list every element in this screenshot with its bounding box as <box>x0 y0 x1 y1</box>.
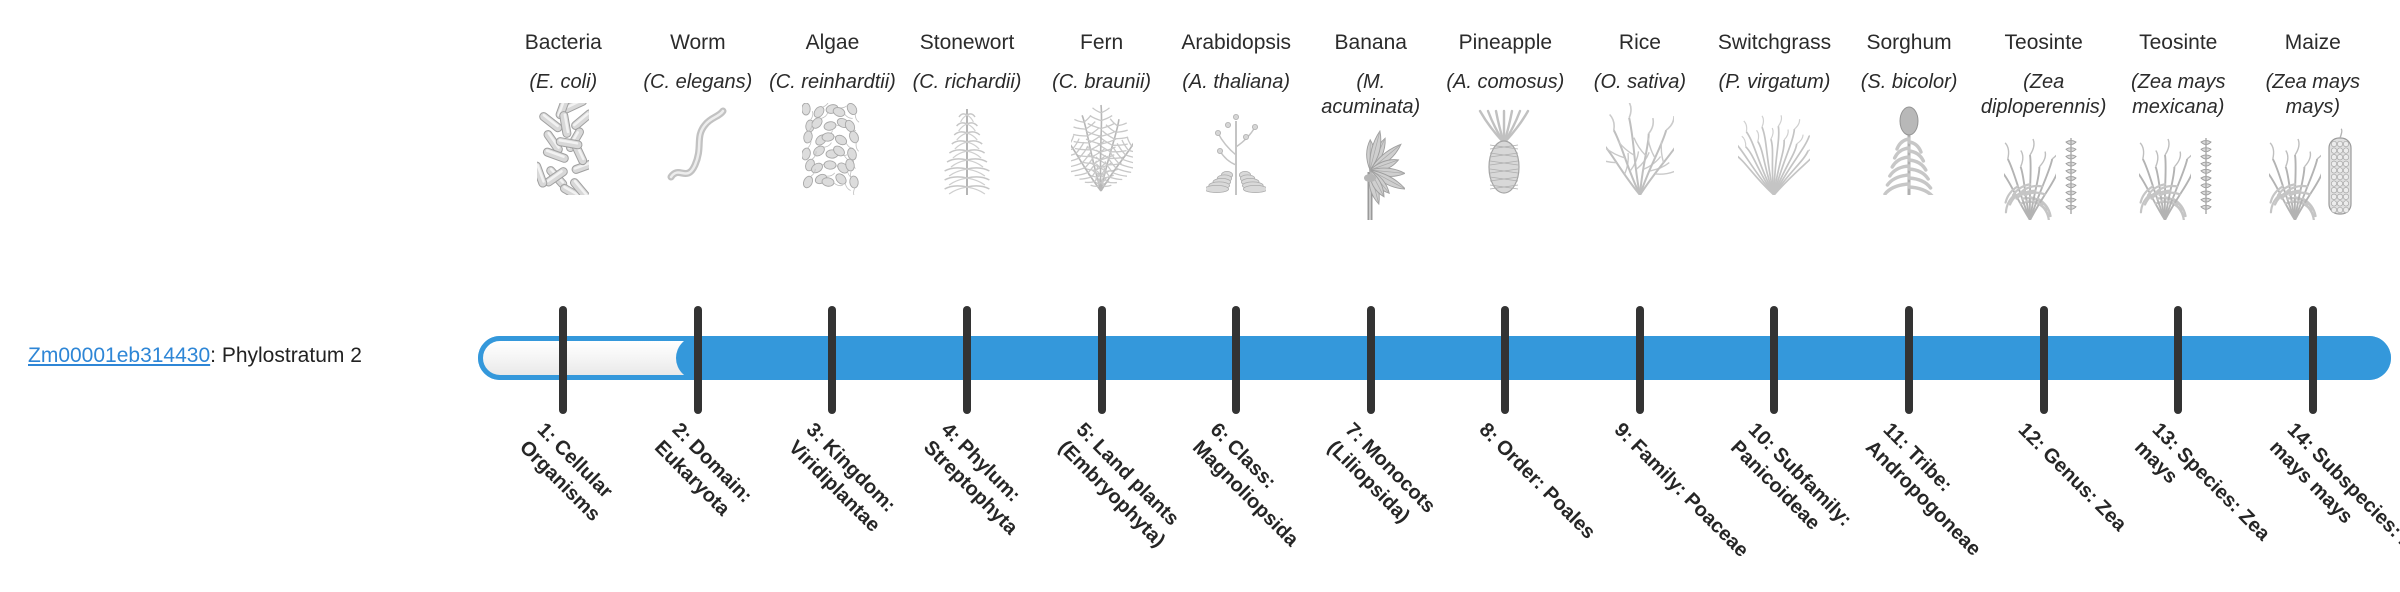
species-common-name: Teosinte <box>2005 30 2083 56</box>
rank-slot: 6: Class: Magnoliopsida <box>1169 418 1304 580</box>
bacteria-illustration <box>496 103 631 195</box>
species-column: Arabidopsis(A. thaliana) <box>1169 30 1304 195</box>
arabidopsis-illustration <box>1169 103 1304 195</box>
banana-illustration <box>1303 128 1438 220</box>
species-column: Stonewort(C. richardii) <box>900 30 1035 195</box>
rank-slot: 14: Subspecies: Zea mays mays <box>2246 418 2381 580</box>
species-scientific-name: (C. elegans) <box>641 70 754 95</box>
species-common-name: Bacteria <box>525 30 602 56</box>
gene-phylostratum-label: Zm00001eb314430: Phylostratum 2 <box>28 343 362 369</box>
species-column: Teosinte(Zea diploperennis) <box>1976 30 2111 220</box>
phylostratum-value: Phylostratum 2 <box>222 344 362 367</box>
phylostratum-progress-bar[interactable] <box>478 336 2391 380</box>
species-column: Sorghum(S. bicolor) <box>1842 30 1977 195</box>
species-scientific-name: (O. sativa) <box>1592 70 1688 95</box>
species-common-name: Maize <box>2285 30 2341 56</box>
species-scientific-name: (C. reinhardtii) <box>767 70 898 95</box>
rank-slot: 8: Order: Poales <box>1438 418 1573 580</box>
species-scientific-name: (Zea diploperennis) <box>1976 70 2111 120</box>
species-columns: Bacteria(E. coli)Worm(C. elegans)Algae(C… <box>496 30 2380 305</box>
species-column: Algae(C. reinhardtii) <box>765 30 900 195</box>
gene-label-separator: : <box>210 344 222 367</box>
rank-slot: 12: Genus: Zea <box>1976 418 2111 580</box>
species-scientific-name: (A. comosus) <box>1444 70 1566 95</box>
rank-slot: 9: Family: Poaceae <box>1573 418 1708 580</box>
rank-slot: 7: Monocots (Liliopsida) <box>1303 418 1438 580</box>
species-scientific-name: (P. virgatum) <box>1717 70 1833 95</box>
species-scientific-name: (Zea mays mays) <box>2246 70 2381 120</box>
species-column: Switchgrass(P. virgatum) <box>1707 30 1842 195</box>
gene-id-link[interactable]: Zm00001eb314430 <box>28 344 210 367</box>
species-common-name: Stonewort <box>920 30 1015 56</box>
fern-illustration <box>1034 103 1169 195</box>
sorghum-illustration <box>1842 103 1977 195</box>
rice-illustration <box>1573 103 1708 195</box>
species-column: Teosinte(Zea mays mexicana) <box>2111 30 2246 220</box>
progress-bar-fill <box>676 336 2391 380</box>
species-scientific-name: (E. coli) <box>527 70 599 95</box>
species-column: Pineapple(A. comosus) <box>1438 30 1573 195</box>
species-column: Banana(M. acuminata) <box>1303 30 1438 220</box>
species-common-name: Worm <box>670 30 726 56</box>
teosinte-diploperennis-illustration <box>1976 128 2111 220</box>
species-common-name: Algae <box>806 30 860 56</box>
species-column: Fern(C. braunii) <box>1034 30 1169 195</box>
pineapple-illustration <box>1438 103 1573 195</box>
species-column: Maize(Zea mays mays) <box>2246 30 2381 220</box>
taxonomic-rank-label: 14: Subspecies: Zea mays mays <box>2263 418 2400 592</box>
maize-illustration <box>2246 128 2381 220</box>
taxonomic-rank-labels: 1: Cellular Organisms2: Domain: Eukaryot… <box>496 418 2380 580</box>
species-common-name: Pineapple <box>1459 30 1552 56</box>
species-column: Bacteria(E. coli) <box>496 30 631 195</box>
rank-slot: 5: Land plants (Embryophyta) <box>1034 418 1169 580</box>
rank-slot: 11: Tribe: Andropogoneae <box>1842 418 1977 580</box>
rank-slot: 10: Subfamily: Panicoideae <box>1707 418 1842 580</box>
species-scientific-name: (Zea mays mexicana) <box>2111 70 2246 120</box>
rank-slot: 3: Kingdom: Viridiplantae <box>765 418 900 580</box>
species-common-name: Switchgrass <box>1718 30 1831 56</box>
species-scientific-name: (M. acuminata) <box>1303 70 1438 120</box>
algae-illustration <box>765 103 900 195</box>
rank-slot: 13: Species: Zea mays <box>2111 418 2246 580</box>
species-scientific-name: (C. richardii) <box>911 70 1024 95</box>
stonewort-illustration <box>900 103 1035 195</box>
species-common-name: Rice <box>1619 30 1661 56</box>
teosinte-mexicana-illustration <box>2111 128 2246 220</box>
species-common-name: Banana <box>1335 30 1407 56</box>
species-common-name: Teosinte <box>2139 30 2217 56</box>
species-scientific-name: (C. braunii) <box>1050 70 1153 95</box>
rank-slot: 2: Domain: Eukaryota <box>631 418 766 580</box>
species-scientific-name: (A. thaliana) <box>1180 70 1292 95</box>
species-scientific-name: (S. bicolor) <box>1859 70 1960 95</box>
species-column: Worm(C. elegans) <box>631 30 766 195</box>
rank-slot: 1: Cellular Organisms <box>496 418 631 580</box>
switchgrass-illustration <box>1707 103 1842 195</box>
rank-slot: 4: Phylum: Streptophyta <box>900 418 1035 580</box>
species-common-name: Fern <box>1080 30 1123 56</box>
species-column: Rice(O. sativa) <box>1573 30 1708 195</box>
worm-illustration <box>631 103 766 195</box>
species-common-name: Arabidopsis <box>1181 30 1291 56</box>
species-common-name: Sorghum <box>1866 30 1951 56</box>
